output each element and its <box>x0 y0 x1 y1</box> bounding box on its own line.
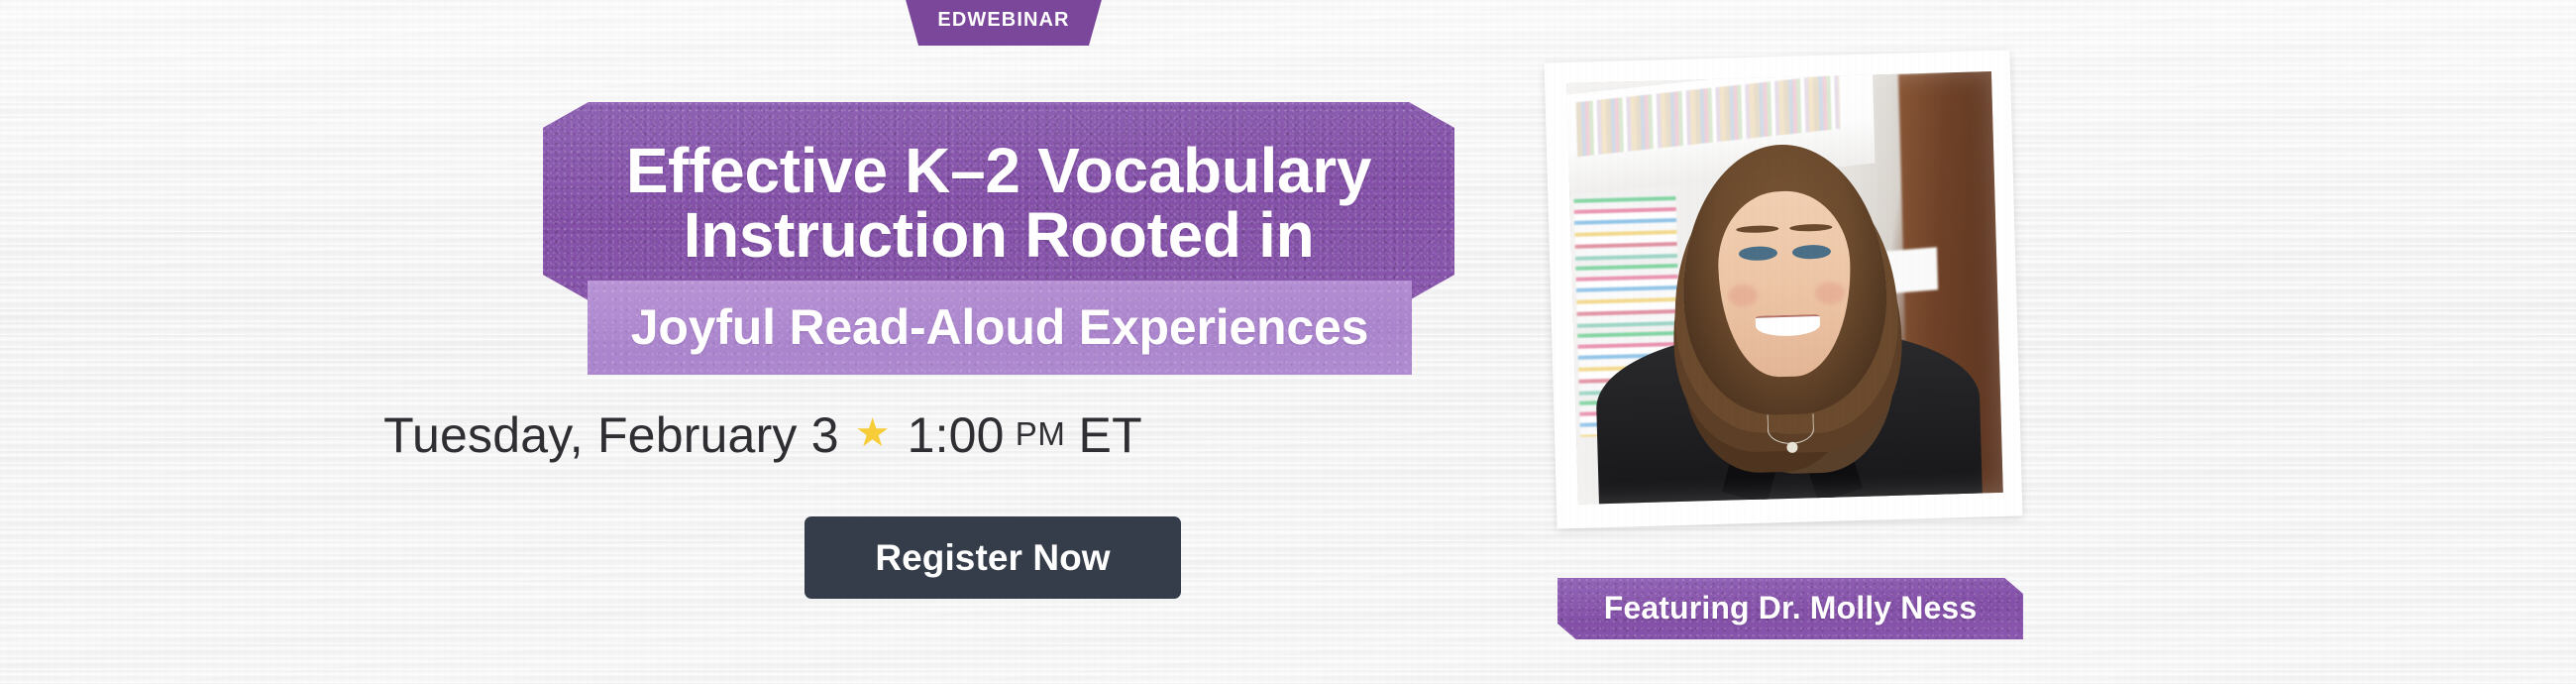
webinar-promo-banner: EDWEBINAR Effective K–2 Vocabulary Instr… <box>0 0 2576 684</box>
event-timezone: ET <box>1079 406 1142 464</box>
photo-vignette <box>1566 71 2003 505</box>
headline-banner: Effective K–2 Vocabulary Instruction Roo… <box>543 102 1454 300</box>
speaker-photo <box>1566 71 2003 505</box>
subheadline-banner: Joyful Read-Aloud Experiences <box>588 281 1412 375</box>
headline-line-2: Instruction Rooted in <box>684 203 1315 268</box>
banner-content-column: EDWEBINAR Effective K–2 Vocabulary Instr… <box>0 0 1526 684</box>
date-time-row: Tuesday, February 3 ★ 1:00 PM ET <box>0 406 1526 464</box>
register-now-button[interactable]: Register Now <box>805 516 1181 599</box>
featuring-ribbon: Featuring Dr. Molly Ness <box>1557 578 2023 639</box>
event-date: Tuesday, February 3 <box>383 406 839 464</box>
event-time-meridiem: PM <box>1016 415 1066 453</box>
subheadline-text: Joyful Read-Aloud Experiences <box>631 298 1368 358</box>
star-icon: ★ <box>855 413 891 453</box>
register-now-label: Register Now <box>875 537 1110 579</box>
speaker-photo-frame <box>1545 51 2023 529</box>
headline-line-1: Effective K–2 Vocabulary <box>626 139 1371 203</box>
edwebinar-tag: EDWEBINAR <box>905 0 1103 46</box>
edwebinar-tag-label: EDWEBINAR <box>937 9 1069 34</box>
featuring-label: Featuring Dr. Molly Ness <box>1604 590 1978 628</box>
event-time: 1:00 <box>908 406 1005 464</box>
